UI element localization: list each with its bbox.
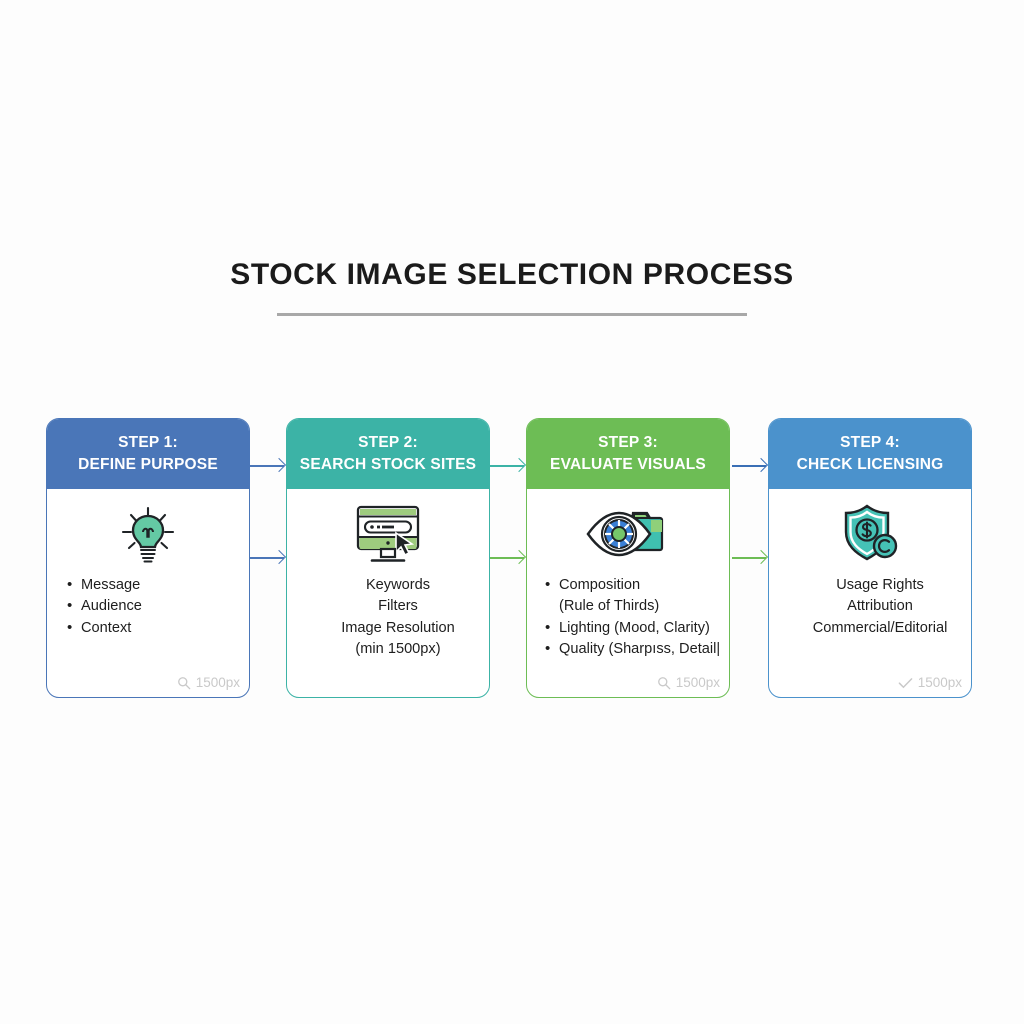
step-card-2-list: Keywords Filters Image Resolution (min 1… [297,575,479,660]
magnifier-icon [657,676,671,690]
title-divider [277,313,747,316]
list-item: Lighting (Mood, Clarity) [539,618,719,639]
list-item: Quality (Sharpıss, Detail| [539,639,719,660]
list-item: Attribution [779,596,961,617]
step-card-2[interactable]: STEP 2: SEARCH STOCK SITES [286,418,490,698]
step-card-4-watermark: 1500px [898,675,962,690]
arrow-step1-step2-top [250,459,284,473]
step-card-3[interactable]: STEP 3: EVALUATE VISUALS [526,418,730,698]
step-card-4-body: Usage Rights Attribution Commercial/Edit… [769,489,971,697]
list-item: (min 1500px) [297,639,479,660]
step-card-3-title: EVALUATE VISUALS [550,454,706,476]
step-card-1-header: STEP 1: DEFINE PURPOSE [47,419,249,489]
step-card-1-body: Message Audience Context 1500px [47,489,249,697]
arrow-step3-step4-top [732,459,766,473]
list-item: Image Resolution [297,618,479,639]
arrow-head [754,550,768,564]
step-card-4-details: Usage Rights Attribution Commercial/Edit… [769,575,971,639]
step-card-4-header: STEP 4: CHECK LICENSING [769,419,971,489]
magnifier-icon [177,676,191,690]
arrow-step1-step2-bottom [250,551,284,565]
lightbulb-icon [47,489,249,575]
step-card-1-title: DEFINE PURPOSE [78,454,218,476]
step-card-1[interactable]: STEP 1: DEFINE PURPOSE [46,418,250,698]
step-card-3-header: STEP 3: EVALUATE VISUALS [527,419,729,489]
step-card-3-step-label: STEP 3: [598,432,658,454]
shield-copyright-icon [769,489,971,575]
step-card-2-body: Keywords Filters Image Resolution (min 1… [287,489,489,697]
step-card-1-watermark: 1500px [177,675,240,690]
title-block: STOCK IMAGE SELECTION PROCESS [0,258,1024,316]
list-item: Audience [61,596,239,617]
list-item: Usage Rights [779,575,961,596]
step-card-1-watermark-text: 1500px [196,675,240,690]
step-card-2-title: SEARCH STOCK SITES [300,454,476,476]
step-card-4-list: Usage Rights Attribution Commercial/Edit… [779,575,961,639]
list-item: (Rule of Thirds) [539,596,719,617]
step-card-3-watermark: 1500px [657,675,720,690]
step-card-4-watermark-text: 1500px [918,675,962,690]
step-card-4[interactable]: STEP 4: CHECK LICENSING Usage Rights Att… [768,418,972,698]
list-item: Message [61,575,239,596]
list-item: Commercial/Editorial [779,618,961,639]
arrow-head [512,550,526,564]
step-card-3-list: Composition (Rule of Thirds) Lighting (M… [539,575,719,660]
list-item: Keywords [297,575,479,596]
step-card-1-list: Message Audience Context [61,575,239,639]
list-item: Composition [539,575,719,596]
step-card-2-details: Keywords Filters Image Resolution (min 1… [287,575,489,660]
arrow-step2-step3-bottom [490,551,524,565]
step-card-1-details: Message Audience Context [47,575,249,639]
step-card-3-details: Composition (Rule of Thirds) Lighting (M… [527,575,729,660]
page-title: STOCK IMAGE SELECTION PROCESS [0,258,1024,291]
arrow-head [512,458,526,472]
list-item: Filters [297,596,479,617]
step-card-2-header: STEP 2: SEARCH STOCK SITES [287,419,489,489]
arrow-head [754,458,768,472]
step-card-1-step-label: STEP 1: [118,432,178,454]
arrow-head [272,550,286,564]
step-card-2-step-label: STEP 2: [358,432,418,454]
arrow-step3-step4-bottom [732,551,766,565]
monitor-search-icon [287,489,489,575]
eye-camera-icon [527,489,729,575]
arrow-head [272,458,286,472]
process-flow: STEP 1: DEFINE PURPOSE [46,418,978,700]
list-item: Context [61,618,239,639]
step-card-4-step-label: STEP 4: [840,432,900,454]
step-card-3-body: Composition (Rule of Thirds) Lighting (M… [527,489,729,697]
step-card-4-title: CHECK LICENSING [797,454,944,476]
arrow-step2-step3-top [490,459,524,473]
check-icon [898,676,913,690]
step-card-3-watermark-text: 1500px [676,675,720,690]
